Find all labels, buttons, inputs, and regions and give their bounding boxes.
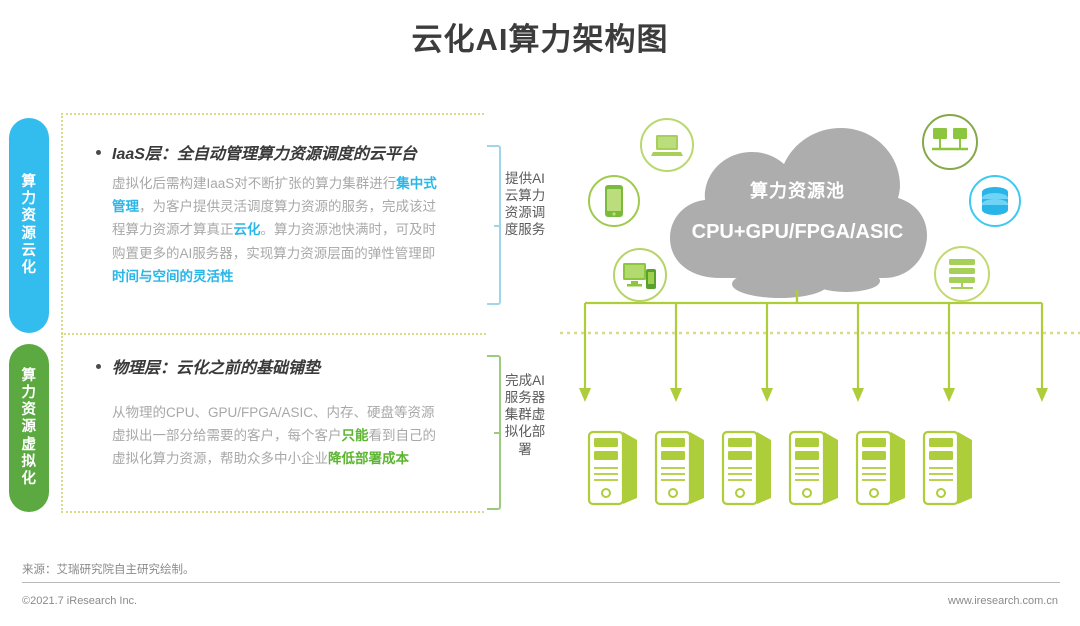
layer-physical-heading: 物理层：云化之前的基础铺垫 — [112, 354, 320, 378]
website-url: www.iresearch.com.cn — [948, 595, 1058, 607]
page-title: 云化AI算力架构图 — [0, 14, 1080, 59]
network-nodes-icon — [922, 114, 978, 170]
text-segment-highlight: 云化 — [234, 222, 261, 237]
server-tower — [652, 428, 708, 508]
bracket-physical-nub — [494, 432, 501, 434]
compute-resource-pool-cloud — [660, 118, 935, 303]
text-segment-highlight: 只能 — [342, 428, 369, 443]
server-tower — [585, 428, 641, 508]
layer-iaas-body: 虚拟化后需构建IaaS对不断扩张的算力集群进行集中式管理，为客户提供灵活调度算力… — [112, 172, 442, 288]
monitor-phone-icon — [613, 248, 667, 302]
smartphone-icon — [588, 175, 640, 227]
bullet-physical — [96, 364, 101, 369]
footer-divider — [22, 582, 1060, 583]
server-tower — [920, 428, 976, 508]
connector-bus — [560, 290, 1080, 450]
sidebar-pill-virtualization-label: 算力资源虚拟化 — [21, 368, 38, 488]
sidebar-pill-virtualization: 算力资源虚拟化 — [9, 344, 49, 512]
sidebar-pill-cloudification-label: 算力资源云化 — [21, 174, 38, 277]
content-dotted-divider — [61, 333, 486, 335]
layer-physical-body: 从物理的CPU、GPU/FPGA/ASIC、内存、硬盘等资源虚拟出一部分给需要的… — [112, 401, 442, 471]
virtualization-boundary-dashed — [560, 330, 1080, 336]
server-tower — [786, 428, 842, 508]
server-tower — [719, 428, 775, 508]
server-tower — [853, 428, 909, 508]
sidebar-pill-cloudification: 算力资源云化 — [9, 118, 49, 333]
text-segment-highlight: 降低部署成本 — [328, 451, 409, 466]
caption-iaas: 提供AI云算力资源调度服务 — [503, 170, 547, 239]
database-icon — [969, 175, 1021, 227]
text-segment: 虚拟化后需构建IaaS对不断扩张的算力集群进行 — [112, 176, 396, 191]
bullet-iaas — [96, 150, 101, 155]
diagram-canvas: 云化AI算力架构图 算力资源云化 算力资源虚拟化 IaaS层：全自动管理算力资源… — [0, 0, 1080, 626]
caption-physical: 完成AI服务器集群虚拟化部署 — [503, 372, 547, 458]
laptop-icon — [640, 118, 694, 172]
bracket-iaas-nub — [494, 225, 501, 227]
source-note: 来源：艾瑞研究院自主研究绘制。 — [22, 561, 195, 577]
server-rack-icon — [934, 246, 990, 302]
text-segment-highlight: 时间与空间的灵活性 — [112, 269, 234, 284]
layer-iaas-heading: IaaS层：全自动管理算力资源调度的云平台 — [112, 140, 417, 164]
copyright-text: ©2021.7 iResearch Inc. — [22, 595, 137, 607]
